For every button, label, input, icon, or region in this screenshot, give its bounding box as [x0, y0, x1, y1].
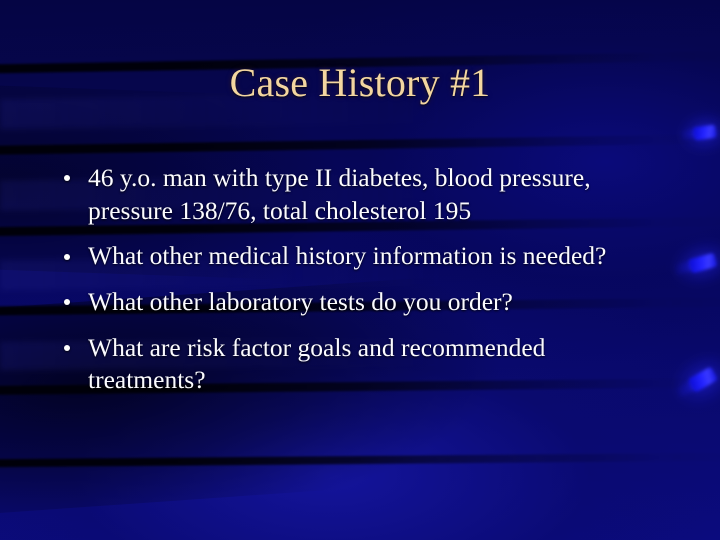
- slide-content: Case History #1 46 y.o. man with type II…: [0, 0, 720, 540]
- list-item: What other medical history information i…: [58, 240, 658, 273]
- bullet-dot-icon: [64, 299, 70, 305]
- list-item: 46 y.o. man with type II diabetes, blood…: [58, 162, 658, 227]
- bullet-dot-icon: [64, 175, 70, 181]
- list-item-label: 46 y.o. man with type II diabetes, blood…: [88, 162, 658, 227]
- presentation-slide: Case History #1 46 y.o. man with type II…: [0, 0, 720, 540]
- slide-title: Case History #1: [0, 62, 720, 104]
- bullet-list: 46 y.o. man with type II diabetes, blood…: [58, 162, 658, 397]
- bullet-dot-icon: [64, 345, 70, 351]
- list-item-label: What are risk factor goals and recommend…: [88, 332, 658, 397]
- list-item-label: What other laboratory tests do you order…: [88, 286, 658, 319]
- bullet-dot-icon: [64, 254, 70, 260]
- list-item-label: What other medical history information i…: [88, 240, 658, 273]
- list-item: What are risk factor goals and recommend…: [58, 332, 658, 397]
- list-item: What other laboratory tests do you order…: [58, 286, 658, 319]
